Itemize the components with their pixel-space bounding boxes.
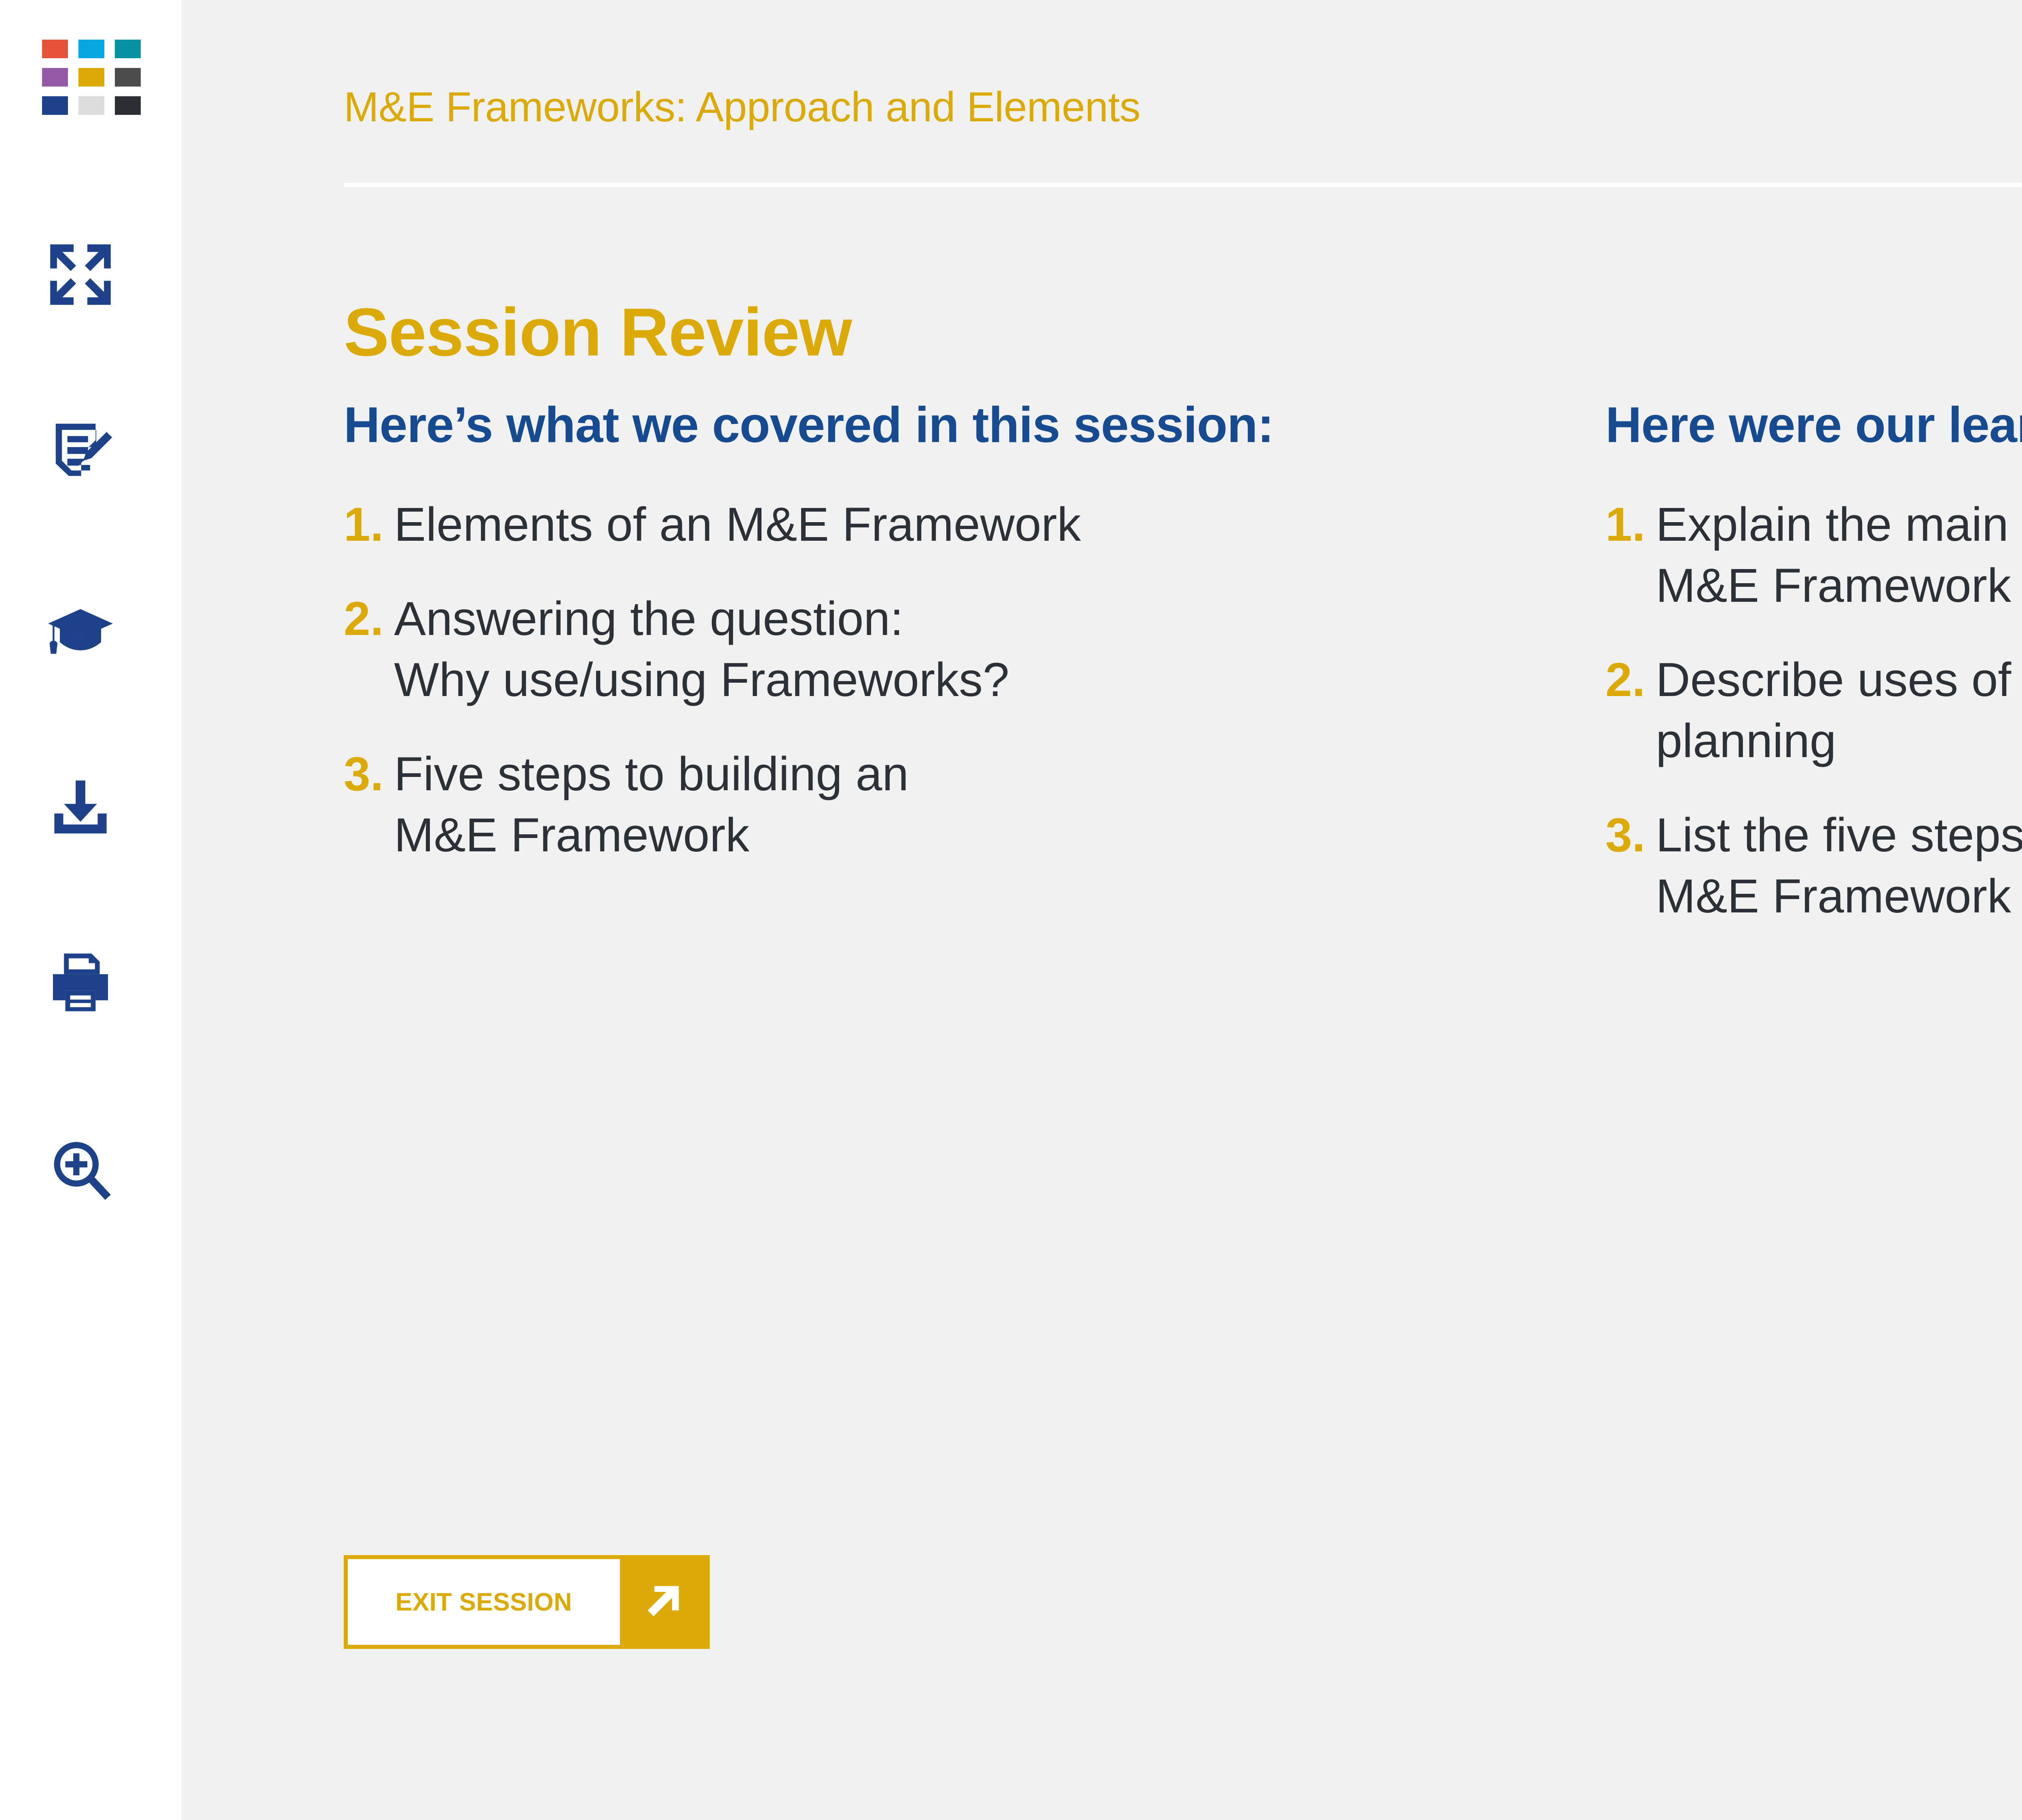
list-marker: 3. <box>344 744 383 805</box>
list-line: M&E Framework <box>1656 555 2022 616</box>
sidebar-item-zoom-in[interactable] <box>42 1130 119 1207</box>
exit-session-button[interactable]: EXIT SESSION <box>344 1555 710 1649</box>
list-item: 1. Elements of an M&E Framework <box>344 494 1347 555</box>
objectives-heading: Here were our learning objectives: <box>1605 392 2022 459</box>
exit-session-arrow-box <box>620 1559 706 1645</box>
list-line: Describe uses of an M&E Framework for <box>1656 650 2022 711</box>
list-text: Explain the main elements of an M&E Fram… <box>1656 494 2022 616</box>
list-text: List the five steps to building an M&E F… <box>1656 805 2022 927</box>
sidebar-item-print[interactable] <box>42 944 119 1021</box>
list-line: planning <box>1656 711 2022 772</box>
sidebar-item-fullscreen[interactable] <box>42 236 119 313</box>
covered-heading: Here’s what we covered in this session: <box>344 392 1347 459</box>
covered-column: Here’s what we covered in this session: … <box>344 392 1347 927</box>
logo-square-8 <box>78 96 104 115</box>
page-title: Session Review <box>344 293 852 371</box>
sidebar-item-notes[interactable] <box>42 414 119 491</box>
covered-list: 1. Elements of an M&E Framework 2. Answe… <box>344 494 1347 866</box>
logo-square-1 <box>42 40 68 58</box>
list-marker: 1. <box>344 494 383 555</box>
logo-square-9 <box>115 96 141 115</box>
list-line: List the five steps to building an <box>1656 805 2022 866</box>
sidebar-item-course[interactable] <box>42 591 119 668</box>
slide-content-area: M&E Frameworks: Approach and Elements Sl… <box>181 0 2022 1820</box>
two-column-layout: Here’s what we covered in this session: … <box>344 392 2022 927</box>
exit-session-label: EXIT SESSION <box>348 1559 620 1645</box>
logo-square-4 <box>42 68 68 87</box>
list-text: Five steps to building an M&E Framework <box>394 744 1347 866</box>
list-line: Answering the question: <box>394 588 1347 650</box>
objectives-list: 1. Explain the main elements of an M&E F… <box>1605 494 2022 927</box>
sidebar-item-download[interactable] <box>42 767 119 844</box>
objectives-column: Here were our learning objectives: 1. Ex… <box>1605 392 2022 927</box>
logo-square-3 <box>115 40 141 58</box>
fullscreen-icon <box>46 240 115 309</box>
external-link-arrow-icon <box>642 1581 684 1623</box>
list-text: Describe uses of an M&E Framework for pl… <box>1656 650 2022 772</box>
left-sidebar <box>0 0 181 1820</box>
logo-square-5 <box>78 68 104 87</box>
list-line: M&E Framework <box>394 805 1347 866</box>
graduation-cap-icon <box>46 595 115 664</box>
list-line: Explain the main elements of an <box>1656 494 2022 555</box>
list-item: 2. Answering the question: Why use/using… <box>344 588 1347 711</box>
list-line: Five steps to building an <box>394 744 1347 805</box>
list-line: Why use/using Frameworks? <box>394 650 1347 711</box>
zoom-in-icon <box>46 1134 115 1203</box>
slide-header: M&E Frameworks: Approach and Elements Sl… <box>344 61 2022 154</box>
notes-icon <box>46 418 115 487</box>
header-divider <box>344 183 2022 187</box>
list-marker: 3. <box>1605 805 1645 866</box>
logo-square-7 <box>42 96 68 115</box>
list-marker: 2. <box>344 588 383 650</box>
list-marker: 1. <box>1605 494 1645 555</box>
list-item: 2. Describe uses of an M&E Framework for… <box>1605 650 2022 772</box>
list-line: Elements of an M&E Framework <box>394 494 1347 555</box>
list-item: 3. Five steps to building an M&E Framewo… <box>344 744 1347 866</box>
list-text: Elements of an M&E Framework <box>394 494 1347 555</box>
list-text: Answering the question: Why use/using Fr… <box>394 588 1347 711</box>
course-title: M&E Frameworks: Approach and Elements <box>344 83 1140 131</box>
list-line: M&E Framework <box>1656 866 2022 927</box>
list-item: 1. Explain the main elements of an M&E F… <box>1605 494 2022 616</box>
print-icon <box>46 948 115 1017</box>
logo-square-6 <box>115 68 141 87</box>
list-marker: 2. <box>1605 650 1645 711</box>
list-item: 3. List the five steps to building an M&… <box>1605 805 2022 927</box>
color-grid-logo <box>42 40 135 115</box>
download-icon <box>46 771 115 840</box>
logo-square-2 <box>78 40 104 58</box>
